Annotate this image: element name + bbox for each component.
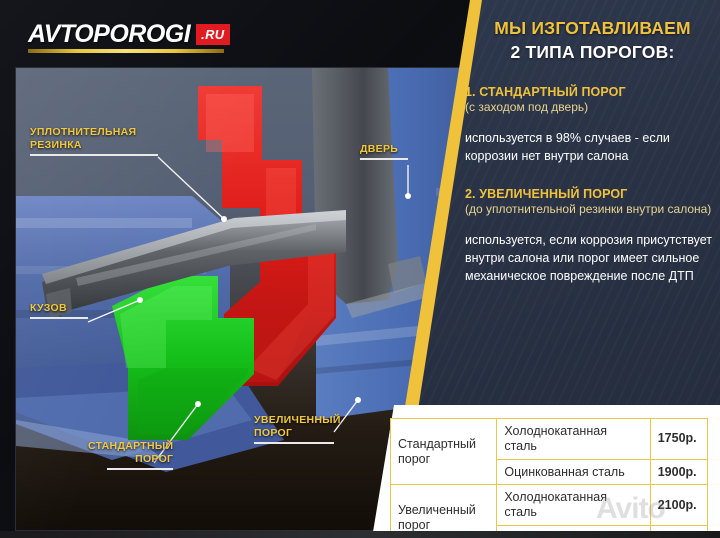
header-line-1: МЫ ИЗГОТАВЛИВАЕМ bbox=[465, 18, 720, 39]
standard-subtitle: (с заходом под дверь) bbox=[465, 100, 720, 116]
table-row: Увеличенный порог Холоднокатанная сталь … bbox=[391, 485, 708, 526]
callout-seal-rule bbox=[30, 154, 158, 156]
callout-door-rule bbox=[360, 158, 408, 160]
logo-wordmark: AVTOPOROGI bbox=[28, 20, 190, 49]
row-price: 1900р. bbox=[650, 459, 707, 485]
logo-underline-bar bbox=[28, 49, 224, 53]
logo-tld-badge: .RU bbox=[196, 24, 230, 45]
type-block-standard: 1. СТАНДАРТНЫЙ ПОРОГ (с заходом под двер… bbox=[465, 85, 720, 165]
callout-enlarged-sill: УВЕЛИЧЕННЫЙ ПОРОГ bbox=[254, 414, 341, 444]
pane-header: МЫ ИЗГОТАВЛИВАЕМ 2 ТИПА ПОРОГОВ: bbox=[465, 0, 720, 63]
callout-standard-sill-label: СТАНДАРТНЫЙ ПОРОГ bbox=[88, 440, 173, 466]
callout-standard-sill: СТАНДАРТНЫЙ ПОРОГ bbox=[88, 440, 173, 470]
header-line-2: 2 ТИПА ПОРОГОВ: bbox=[465, 42, 720, 63]
callout-body-rule bbox=[30, 317, 88, 319]
callout-door: ДВЕРЬ bbox=[360, 143, 408, 160]
callout-standard-sill-rule bbox=[107, 468, 173, 470]
site-logo[interactable]: AVTOPOROGI .RU bbox=[28, 20, 230, 49]
row-price: 2100р. bbox=[650, 485, 707, 526]
row-type-standard: Стандартный порог bbox=[391, 419, 497, 485]
table-row: Стандартный порог Холоднокатанная сталь … bbox=[391, 419, 708, 460]
promo-banner: AVTOPOROGI .RU bbox=[0, 0, 720, 538]
standard-title: 1. СТАНДАРТНЫЙ ПОРОГ bbox=[465, 85, 720, 99]
callout-enlarged-sill-rule bbox=[254, 442, 334, 444]
row-material: Холоднокатанная сталь bbox=[497, 485, 650, 526]
row-price: 1750р. bbox=[650, 419, 707, 460]
row-material: Оцинкованная сталь bbox=[497, 459, 650, 485]
enlarged-body: используется, если коррозия присутствует… bbox=[465, 231, 720, 285]
row-material: Холоднокатанная сталь bbox=[497, 419, 650, 460]
callout-enlarged-sill-label: УВЕЛИЧЕННЫЙ ПОРОГ bbox=[254, 414, 341, 440]
callout-seal-label: УПЛОТНИТЕЛЬНАЯ РЕЗИНКА bbox=[30, 126, 158, 152]
bottom-strip bbox=[0, 531, 720, 538]
enlarged-title: 2. УВЕЛИЧЕННЫЙ ПОРОГ bbox=[465, 187, 720, 201]
callout-door-label: ДВЕРЬ bbox=[360, 143, 408, 156]
callout-body: КУЗОВ bbox=[30, 302, 88, 319]
callout-body-label: КУЗОВ bbox=[30, 302, 88, 315]
callout-seal: УПЛОТНИТЕЛЬНАЯ РЕЗИНКА bbox=[30, 126, 158, 156]
standard-body: используется в 98% случаев - если корроз… bbox=[465, 129, 720, 165]
price-table: Стандартный порог Холоднокатанная сталь … bbox=[390, 418, 708, 538]
enlarged-subtitle: (до уплотнительной резинки внутри салона… bbox=[465, 202, 720, 218]
row-type-enlarged: Увеличенный порог bbox=[391, 485, 497, 538]
type-block-enlarged: 2. УВЕЛИЧЕННЫЙ ПОРОГ (до уплотнительной … bbox=[465, 187, 720, 285]
